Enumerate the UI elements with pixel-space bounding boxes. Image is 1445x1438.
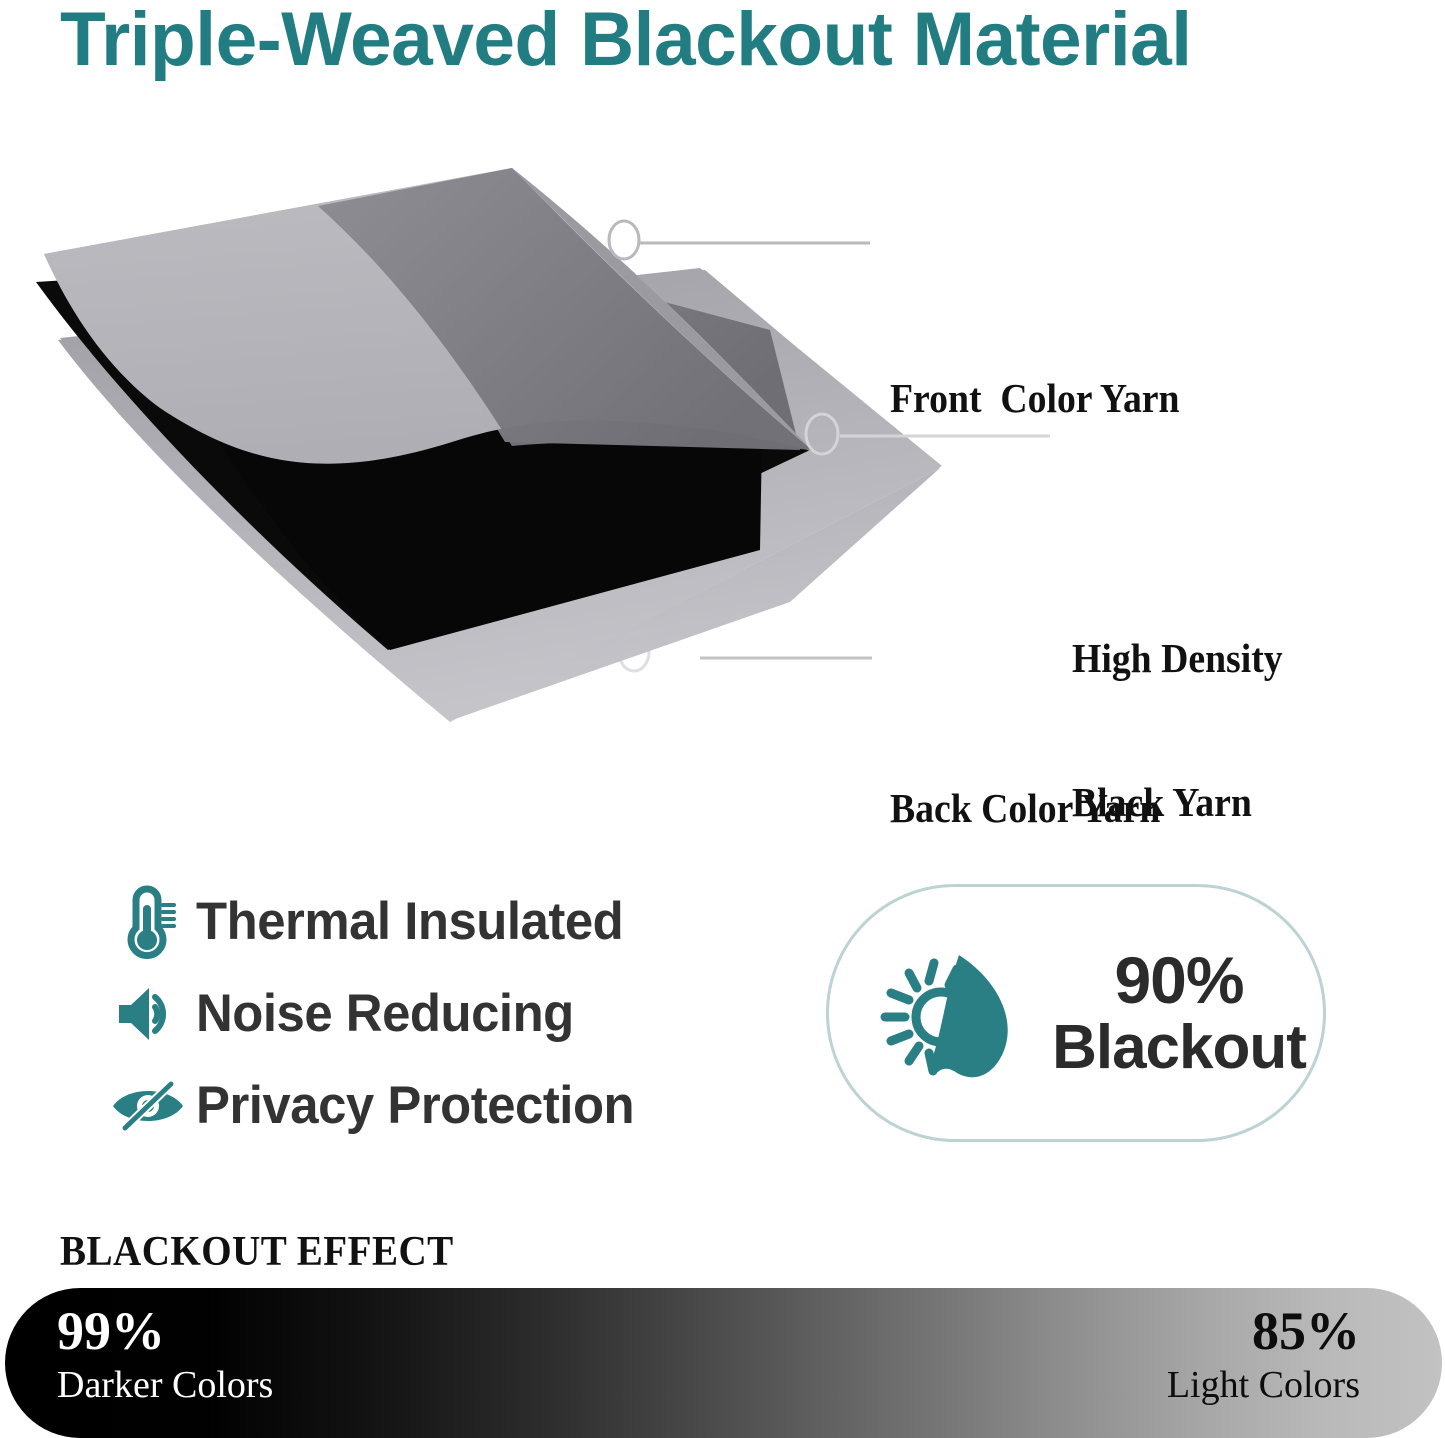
- blackout-badge: 90% Blackout: [826, 884, 1326, 1142]
- blackout-stat-light-percent: 85%: [1167, 1304, 1360, 1358]
- fabric-layers-diagram: Front Color Yarn High Density Black Yarn…: [0, 150, 1445, 750]
- blackout-badge-percent: 90%: [1051, 945, 1307, 1015]
- feature-list: Thermal Insulated Noise Reducing Privacy…: [100, 876, 760, 1152]
- diagram-label-back-color-yarn: Back Color Yarn: [890, 784, 1160, 832]
- feature-item-privacy-protection: Privacy Protection: [100, 1060, 760, 1152]
- callout-front: [609, 221, 870, 259]
- eye-slash-icon: [100, 1078, 196, 1134]
- feature-item-thermal-insulated: Thermal Insulated: [100, 876, 760, 968]
- thermometer-icon: [100, 883, 196, 961]
- diagram-label-high-density-black-yarn: High Density Black Yarn: [1072, 538, 1283, 922]
- speaker-sound-icon: [100, 983, 196, 1045]
- sun-blocked-icon: [851, 943, 1051, 1083]
- blackout-effect-heading: BLACKOUT EFFECT: [60, 1228, 454, 1276]
- blackout-stat-darker-percent: 99%: [57, 1304, 273, 1358]
- feature-label-noise-reducing: Noise Reducing: [196, 986, 574, 1042]
- blackout-effect-gradient-bar: 99% Darker Colors 85% Light Colors: [5, 1288, 1442, 1438]
- blackout-badge-text: 90% Blackout: [1051, 945, 1323, 1081]
- feature-label-privacy-protection: Privacy Protection: [196, 1078, 634, 1134]
- feature-item-noise-reducing: Noise Reducing: [100, 968, 760, 1060]
- blackout-stat-light-label: Light Colors: [1167, 1366, 1360, 1404]
- callout-dot-front: [609, 221, 639, 259]
- blackout-stat-darker-colors: 99% Darker Colors: [57, 1304, 273, 1404]
- diagram-label-front-color-yarn: Front Color Yarn: [890, 374, 1180, 422]
- feature-label-thermal-insulated: Thermal Insulated: [196, 894, 623, 950]
- blackout-stat-darker-label: Darker Colors: [57, 1366, 273, 1404]
- diagram-label-high-density-line1: High Density: [1072, 634, 1283, 682]
- blackout-stat-light-colors: 85% Light Colors: [1167, 1304, 1360, 1404]
- blackout-badge-word: Blackout: [1051, 1015, 1307, 1081]
- curtain-shade: [929, 955, 1008, 1077]
- page-title: Triple-Weaved Blackout Material: [60, 0, 1385, 86]
